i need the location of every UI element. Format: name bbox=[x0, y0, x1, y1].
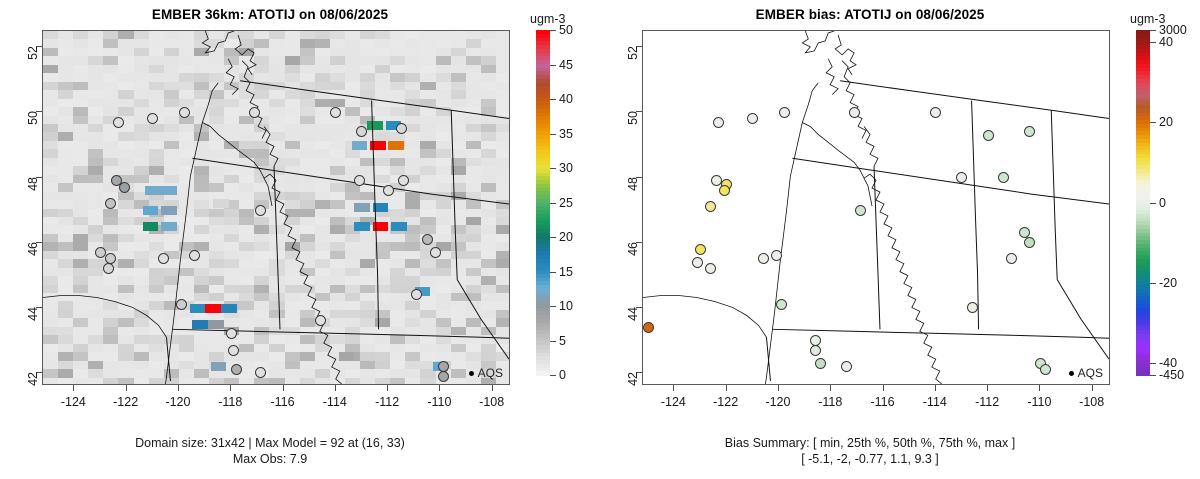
x-axis-model: -124-122-120-118-116-114-112-110-108 bbox=[42, 385, 510, 419]
colorbar-segment bbox=[536, 371, 550, 375]
station-marker bbox=[711, 175, 722, 186]
colorbar-tick-label: 0 bbox=[1159, 196, 1166, 210]
x-tick bbox=[1092, 385, 1093, 391]
x-tick-label: -116 bbox=[270, 395, 294, 409]
x-tick bbox=[73, 385, 74, 391]
x-tick bbox=[387, 385, 388, 391]
page-title-bias: EMBER bias: ATOTIJ on 08/06/2025 bbox=[600, 7, 1140, 22]
x-tick-label: -114 bbox=[323, 395, 347, 409]
colorbar-tick bbox=[550, 341, 556, 342]
station-marker bbox=[713, 117, 724, 128]
colorbar-tick-label: 3000 bbox=[1159, 23, 1187, 37]
station-marker bbox=[228, 345, 239, 356]
colorbar-tick bbox=[1150, 375, 1156, 376]
y-tick-label: 44 bbox=[626, 307, 640, 321]
colorbar-tick-label: 45 bbox=[559, 58, 573, 72]
station-marker bbox=[983, 130, 994, 141]
station-marker bbox=[779, 107, 790, 118]
aqs-legend-model: AQS bbox=[469, 366, 503, 380]
station-marker bbox=[315, 315, 326, 326]
panel-bias: EMBER bias: ATOTIJ on 08/06/2025 bbox=[600, 0, 1200, 479]
x-tick bbox=[673, 385, 674, 391]
y-tick-label: 52 bbox=[26, 46, 40, 60]
x-tick-label: -110 bbox=[427, 395, 451, 409]
x-tick bbox=[492, 385, 493, 391]
x-tick bbox=[987, 385, 988, 391]
x-tick bbox=[439, 385, 440, 391]
station-marker bbox=[255, 205, 266, 216]
y-tick-label: 42 bbox=[26, 372, 40, 386]
colorbar-tick-label: 0 bbox=[559, 368, 566, 382]
x-tick-label: -120 bbox=[765, 395, 790, 409]
x-tick-label: -108 bbox=[479, 395, 504, 409]
x-tick bbox=[335, 385, 336, 391]
y-tick-label: 48 bbox=[26, 177, 40, 191]
x-tick bbox=[1039, 385, 1040, 391]
colorbar-tick bbox=[550, 272, 556, 273]
colorbar-tick-label: 25 bbox=[559, 196, 573, 210]
x-tick bbox=[830, 385, 831, 391]
caption-bias-line1: Bias Summary: [ min, 25th %, 50th %, 75t… bbox=[600, 436, 1140, 451]
colorbar-segment bbox=[1136, 371, 1150, 375]
y-tick-label: 48 bbox=[626, 177, 640, 191]
y-tick-label: 42 bbox=[626, 372, 640, 386]
station-marker bbox=[119, 182, 130, 193]
station-marker bbox=[383, 185, 394, 196]
aqs-dot-icon bbox=[1069, 371, 1074, 376]
station-marker bbox=[643, 322, 654, 333]
colorbar-tick-label: 5 bbox=[559, 334, 566, 348]
colorbar-tick bbox=[1150, 30, 1156, 31]
panel-model: EMBER 36km: ATOTIJ on 08/06/2025 bbox=[0, 0, 600, 479]
x-tick-label: -116 bbox=[870, 395, 894, 409]
aqs-legend-label: AQS bbox=[478, 366, 503, 380]
x-tick bbox=[726, 385, 727, 391]
station-marker bbox=[430, 247, 441, 258]
x-tick-label: -120 bbox=[165, 395, 190, 409]
station-marker bbox=[113, 117, 124, 128]
x-tick-label: -124 bbox=[661, 395, 686, 409]
x-tick bbox=[230, 385, 231, 391]
colorbar-tick-label: 15 bbox=[559, 265, 573, 279]
x-tick-label: -122 bbox=[113, 395, 138, 409]
colorbar-tick bbox=[1150, 283, 1156, 284]
colorbar-tick bbox=[550, 99, 556, 100]
x-tick bbox=[883, 385, 884, 391]
y-tick-label: 52 bbox=[626, 46, 640, 60]
colorbar-tick bbox=[550, 168, 556, 169]
y-tick-label: 44 bbox=[26, 307, 40, 321]
colorbar-gradient-bias bbox=[1136, 30, 1150, 375]
y-tick-label: 50 bbox=[26, 111, 40, 125]
x-tick bbox=[178, 385, 179, 391]
colorbar-tick bbox=[550, 30, 556, 31]
colorbar-tick-label: -20 bbox=[1159, 276, 1177, 290]
colorbar-tick bbox=[1150, 42, 1156, 43]
station-marker bbox=[695, 244, 706, 255]
station-marker bbox=[815, 358, 826, 369]
x-tick bbox=[778, 385, 779, 391]
y-tick-label: 46 bbox=[26, 242, 40, 256]
x-tick-label: -112 bbox=[375, 395, 399, 409]
station-marker bbox=[396, 123, 407, 134]
station-marker bbox=[438, 371, 449, 382]
colorbar-tick-label: 20 bbox=[559, 230, 573, 244]
caption-bias-line2: [ -5.1, -2, -0.77, 1.1, 9.3 ] bbox=[600, 452, 1140, 467]
x-tick-label: -110 bbox=[1027, 395, 1051, 409]
colorbar-tick bbox=[550, 375, 556, 376]
station-marker bbox=[855, 205, 866, 216]
x-tick-label: -114 bbox=[923, 395, 947, 409]
station-marker bbox=[719, 185, 730, 196]
colorbar-tick-label: 10 bbox=[559, 299, 573, 313]
colorbar-tick bbox=[550, 203, 556, 204]
y-axis-bias: 424446485052 bbox=[608, 30, 642, 385]
caption-model-line1: Domain size: 31x42 | Max Model = 92 at (… bbox=[0, 436, 540, 451]
x-tick bbox=[283, 385, 284, 391]
station-marker bbox=[255, 367, 266, 378]
x-tick-label: -122 bbox=[713, 395, 738, 409]
colorbar-tick bbox=[550, 237, 556, 238]
colorbar-tick-label: 35 bbox=[559, 127, 573, 141]
map-plot-model: AQS bbox=[42, 30, 510, 385]
station-marker bbox=[95, 247, 106, 258]
aqs-legend-label: AQS bbox=[1078, 366, 1103, 380]
colorbar-tick-label: -450 bbox=[1159, 368, 1184, 382]
colorbar-tick-label: 20 bbox=[1159, 115, 1173, 129]
colorbar-tick bbox=[1150, 122, 1156, 123]
station-marker bbox=[810, 345, 821, 356]
x-tick bbox=[935, 385, 936, 391]
station-marker bbox=[179, 107, 190, 118]
colorbar-tick-label: 40 bbox=[1159, 35, 1173, 49]
colorbar-tick bbox=[1150, 203, 1156, 204]
colorbar-tick bbox=[1150, 363, 1156, 364]
map-plot-bias: AQS bbox=[642, 30, 1110, 385]
y-tick-label: 46 bbox=[626, 242, 640, 256]
colorbar-tick-label: 50 bbox=[559, 23, 573, 37]
colorbar-tick bbox=[550, 134, 556, 135]
station-marker bbox=[771, 250, 782, 261]
page-title-model: EMBER 36km: ATOTIJ on 08/06/2025 bbox=[0, 7, 540, 22]
y-axis-model: 424446485052 bbox=[8, 30, 42, 385]
colorbar-gradient-model bbox=[536, 30, 550, 375]
colorbar-tick bbox=[550, 65, 556, 66]
colorbar-tick bbox=[550, 306, 556, 307]
aqs-dot-icon bbox=[469, 371, 474, 376]
x-axis-bias: -124-122-120-118-116-114-112-110-108 bbox=[642, 385, 1110, 419]
caption-model-line2: Max Obs: 7.9 bbox=[0, 452, 540, 467]
figure-canvas: EMBER 36km: ATOTIJ on 08/06/2025 bbox=[0, 0, 1200, 479]
x-tick-label: -112 bbox=[975, 395, 999, 409]
x-tick bbox=[126, 385, 127, 391]
y-tick-label: 50 bbox=[626, 111, 640, 125]
colorbar-tick-label: 40 bbox=[559, 92, 573, 106]
x-tick-label: -108 bbox=[1079, 395, 1104, 409]
aqs-legend-bias: AQS bbox=[1069, 366, 1103, 380]
station-marker bbox=[422, 234, 433, 245]
x-tick-label: -118 bbox=[218, 395, 242, 409]
x-tick-label: -118 bbox=[818, 395, 842, 409]
colorbar-tick-label: 30 bbox=[559, 161, 573, 175]
x-tick-label: -124 bbox=[61, 395, 86, 409]
colorbar-tick-label: -40 bbox=[1159, 356, 1177, 370]
